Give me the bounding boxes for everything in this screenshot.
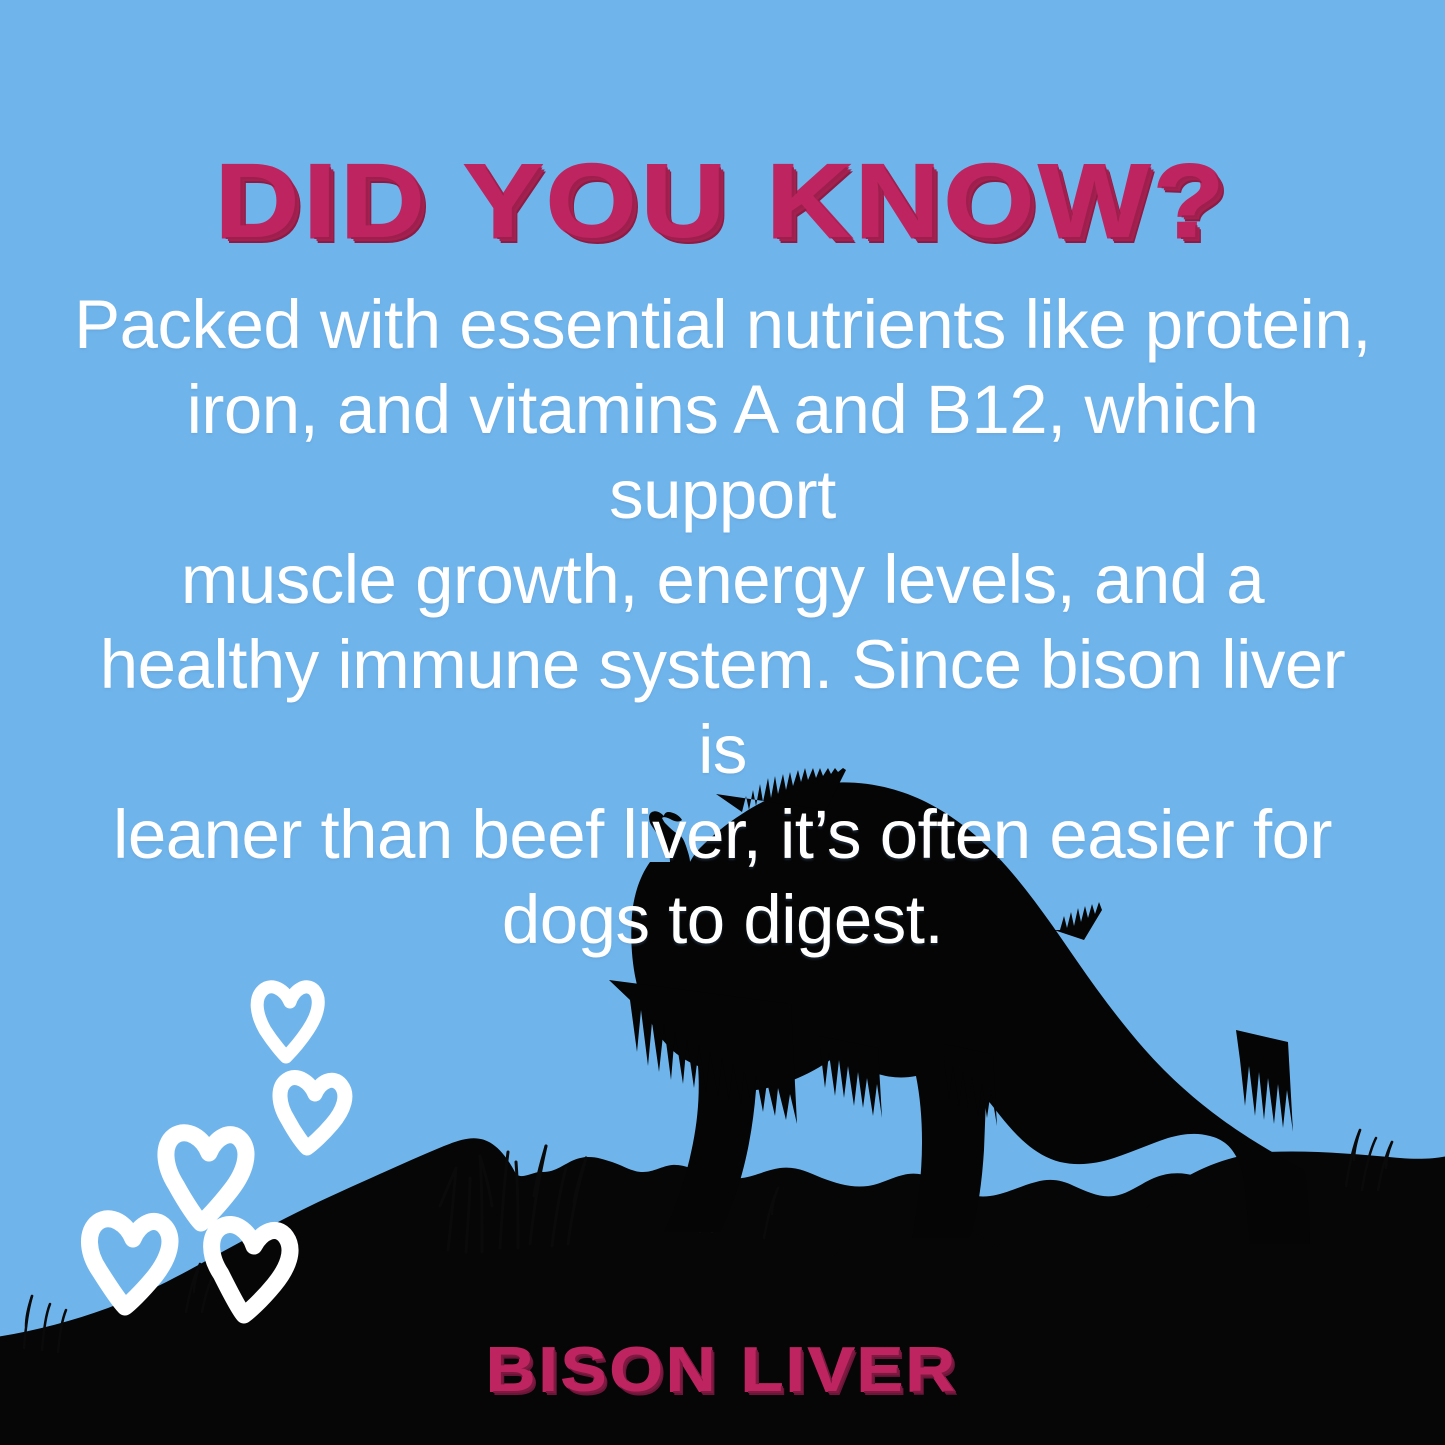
headline-container: DID YOU KNOW?	[0, 150, 1445, 254]
headline-text: DID YOU KNOW?	[216, 150, 1230, 254]
body-line: healthy immune system. Since bison liver…	[73, 622, 1373, 792]
poster-canvas: DID YOU KNOW? Packed with essential nutr…	[0, 0, 1445, 1445]
heart-outline-icon	[166, 1133, 246, 1223]
body-line: iron, and vitamins A and B12, which supp…	[73, 367, 1373, 537]
heart-outline-icon	[257, 987, 318, 1057]
body-paragraph: Packed with essential nutrients like pro…	[73, 282, 1373, 962]
caption-container: BISON LIVER	[0, 1340, 1445, 1402]
heart-outline-icon	[280, 1078, 345, 1148]
body-line: dogs to digest.	[73, 877, 1373, 962]
body-line: Packed with essential nutrients like pro…	[73, 282, 1373, 367]
body-line: muscle growth, energy levels, and a	[73, 537, 1373, 622]
product-name-caption: BISON LIVER	[486, 1340, 958, 1402]
body-line: leaner than beef liver, it’s often easie…	[73, 792, 1373, 877]
